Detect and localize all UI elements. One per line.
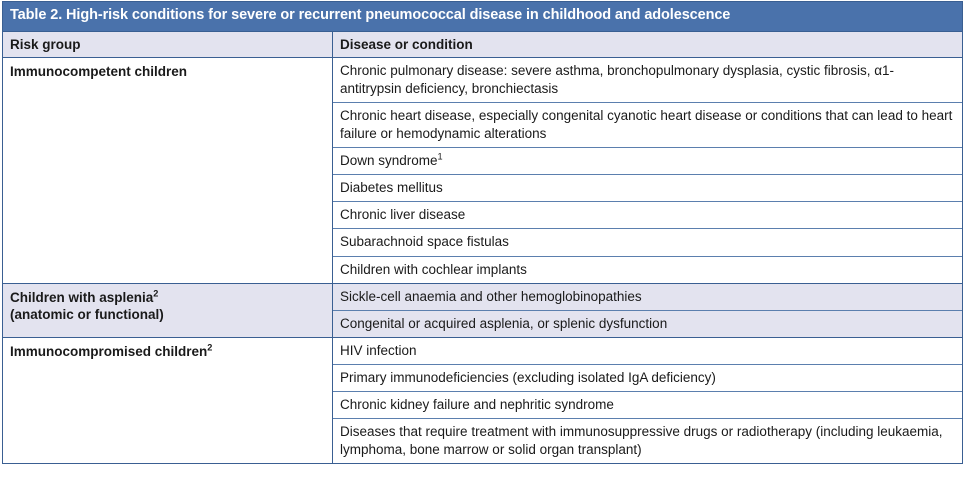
risk-group-footnote-marker: 2 [153, 288, 158, 298]
condition-cell: Chronic liver disease [333, 202, 962, 229]
condition-cell: HIV infection [333, 338, 962, 365]
risk-group-label: Immunocompromised children2 [3, 338, 333, 463]
risk-group-block: Children with asplenia2(anatomic or func… [3, 284, 962, 338]
condition-text: Chronic kidney failure and nephritic syn… [340, 397, 614, 412]
condition-text: HIV infection [340, 343, 417, 358]
condition-list: Chronic pulmonary disease: severe asthma… [333, 58, 962, 283]
condition-text: Diabetes mellitus [340, 180, 443, 195]
condition-cell: Subarachnoid space fistulas [333, 229, 962, 256]
risk-group-label-text: Immunocompromised children [10, 344, 207, 359]
risk-group-footnote-marker: 2 [207, 342, 212, 352]
condition-cell: Sickle-cell anaemia and other hemoglobin… [333, 284, 962, 311]
condition-text: Children with cochlear implants [340, 262, 527, 277]
condition-list: HIV infectionPrimary immunodeficiencies … [333, 338, 962, 463]
table-title: Table 2. High-risk conditions for severe… [3, 2, 962, 32]
condition-cell: Chronic kidney failure and nephritic syn… [333, 392, 962, 419]
condition-footnote-marker: 1 [438, 152, 443, 162]
condition-text: Congenital or acquired asplenia, or sple… [340, 316, 667, 331]
risk-group-label-text: Children with asplenia [10, 290, 153, 305]
condition-text: Chronic liver disease [340, 207, 465, 222]
column-header-disease-or-condition: Disease or condition [333, 32, 962, 57]
condition-cell: Down syndrome1 [333, 148, 962, 175]
condition-text: Subarachnoid space fistulas [340, 234, 509, 249]
condition-text: Primary immunodeficiencies (excluding is… [340, 370, 716, 385]
condition-cell: Congenital or acquired asplenia, or sple… [333, 311, 962, 337]
condition-cell: Children with cochlear implants [333, 257, 962, 283]
condition-list: Sickle-cell anaemia and other hemoglobin… [333, 284, 962, 337]
condition-text: Chronic heart disease, especially congen… [340, 108, 952, 141]
condition-text: Sickle-cell anaemia and other hemoglobin… [340, 289, 642, 304]
risk-group-label-line2: (anatomic or functional) [10, 307, 164, 322]
risk-group-label: Children with asplenia2(anatomic or func… [3, 284, 333, 337]
column-header-risk-group: Risk group [3, 32, 333, 57]
condition-cell: Chronic pulmonary disease: severe asthma… [333, 58, 962, 103]
risk-group-block: Immunocompromised children2HIV infection… [3, 338, 962, 463]
table-body: Immunocompetent childrenChronic pulmonar… [3, 58, 962, 463]
risk-group-block: Immunocompetent childrenChronic pulmonar… [3, 58, 962, 284]
table-header-row: Risk group Disease or condition [3, 32, 962, 58]
condition-cell: Primary immunodeficiencies (excluding is… [333, 365, 962, 392]
condition-cell: Chronic heart disease, especially congen… [333, 103, 962, 148]
condition-cell: Diseases that require treatment with imm… [333, 419, 962, 463]
condition-text: Diseases that require treatment with imm… [340, 424, 943, 457]
risk-group-label-text: Immunocompetent children [10, 64, 187, 79]
risk-group-label: Immunocompetent children [3, 58, 333, 283]
high-risk-conditions-table: Table 2. High-risk conditions for severe… [2, 1, 963, 464]
condition-text: Chronic pulmonary disease: severe asthma… [340, 63, 894, 96]
condition-text: Down syndrome [340, 153, 438, 168]
condition-cell: Diabetes mellitus [333, 175, 962, 202]
